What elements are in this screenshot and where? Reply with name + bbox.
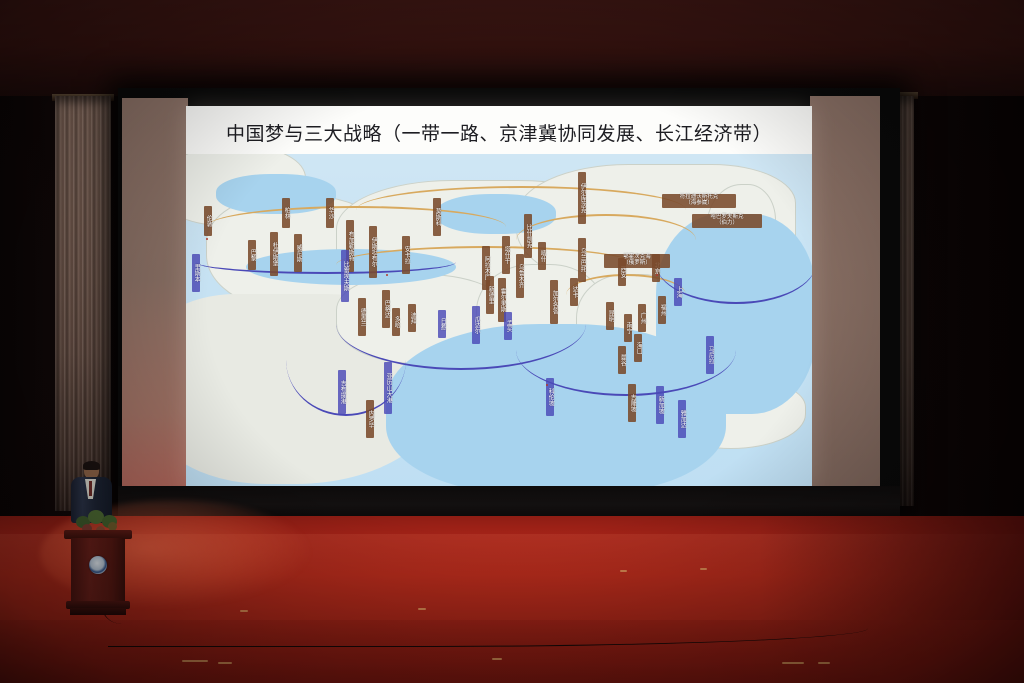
map-label-land: 德黑兰 (358, 298, 366, 336)
map-label-land: 多哈 (392, 308, 400, 336)
belt-and-road-map: 伦敦 柏林 华沙 巴黎 杜伊斯堡 威尼斯 布加勒斯特 伊斯坦布尔 安卡拉 莫斯科… (186, 154, 812, 488)
map-label-land: 莫斯科 (433, 198, 441, 236)
map-label-land: 杜伊斯堡 (270, 232, 278, 276)
stage-floor-marker (782, 662, 804, 664)
map-label-land: 内罗毕 (366, 400, 374, 438)
stage-floor-marker (620, 570, 627, 572)
map-label-land: 华沙 (326, 198, 334, 228)
map-label-port: 上海 (674, 278, 682, 306)
map-label-land: 威尼斯 (294, 234, 302, 272)
map-label-land: 伊尔库茨克 (578, 172, 586, 224)
screen-mat-right (810, 96, 880, 496)
stage-floor-marker (182, 660, 208, 662)
map-label-land: 比什凯克 (524, 214, 532, 258)
stage-floor-marker (418, 608, 426, 610)
map-label-land: 昆明 (606, 302, 614, 330)
podium-foot (70, 608, 126, 615)
projected-slide: 中国梦与三大战略（一带一路、京津冀协同发展、长江经济带） (186, 106, 812, 488)
map-label-port: 新加坡 (656, 386, 664, 424)
map-label-land: 塔什干 (502, 236, 510, 274)
stage-curtain-left (55, 96, 111, 511)
stage-floor-marker (700, 568, 707, 570)
map-label-region-line2: （伯力） (716, 221, 738, 227)
lecture-hall-scene: 中国梦与三大战略（一带一路、京津冀协同发展、长江经济带） (0, 0, 1024, 683)
map-label-land: 福州 (658, 296, 666, 324)
map-label-land: 吉隆坡 (628, 384, 636, 422)
map-label-port: 孟买 (504, 312, 512, 340)
map-label-region: 鄂霍次克海 （俄罗斯） (604, 254, 670, 268)
route-sea-mediterranean (196, 250, 456, 274)
map-label-land: 新德里 (486, 276, 494, 314)
map-label-port: 里斯本 (192, 254, 200, 292)
map-label-port: 瓜达尔 (472, 306, 480, 344)
map-label-land: 乌兰巴托 (578, 238, 586, 282)
map-label-land: 喀什 (538, 242, 546, 270)
map-label-land: 加尔各答 (550, 280, 558, 324)
stage-floor-marker (218, 662, 232, 664)
map-label-port: 马尼拉 (706, 336, 714, 374)
screen-mat-left (122, 98, 188, 502)
speaker-podium (64, 530, 132, 618)
map-label-port: 日惹 (438, 310, 446, 338)
map-city-dot (386, 274, 388, 276)
map-label-land: 乌鲁木齐 (516, 254, 524, 298)
map-city-dot (206, 238, 208, 240)
map-label-land: 伦敦 (204, 206, 212, 236)
map-label-region-line2: （海参崴） (685, 201, 713, 207)
map-label-land: 伊斯坦布尔 (369, 226, 377, 278)
map-label-region: 哈巴罗夫斯克 （伯力） (692, 214, 762, 228)
map-label-land: 柏林 (282, 198, 290, 228)
map-label-region-line2: （俄罗斯） (623, 261, 651, 267)
map-label-land: 巴格达 (382, 290, 390, 328)
map-label-land: 曼谷 (618, 346, 626, 374)
backdrop-right-dark (900, 96, 1024, 526)
map-label-land: 广州 (638, 304, 646, 332)
stage-floor-marker (240, 610, 248, 612)
speaker-hair (83, 461, 100, 470)
map-label-port: 吉布提港 (338, 370, 346, 414)
backdrop-upper-band (0, 0, 1024, 100)
map-label-land: 达卡 (570, 278, 578, 306)
slide-title: 中国梦与三大战略（一带一路、京津冀协同发展、长江经济带） (186, 110, 812, 154)
podium-emblem-icon (89, 556, 107, 574)
map-city-dot (546, 384, 548, 386)
map-city-dot (656, 274, 658, 276)
map-label-land: 巴黎 (248, 240, 256, 270)
stage-floor-marker (818, 662, 830, 664)
map-label-land: 海口 (634, 334, 642, 362)
speaker-tie (89, 481, 92, 496)
map-label-port: 雅加达 (678, 400, 686, 438)
stage-floor-marker (492, 658, 502, 660)
map-label-land: 南宁 (624, 314, 632, 342)
map-label-region: 符拉迪沃斯托克 （海参崴） (662, 194, 736, 208)
projection-screen: 中国梦与三大战略（一带一路、京津冀协同发展、长江经济带） (118, 88, 900, 520)
map-label-port: 亚历山大港 (384, 362, 392, 414)
map-label-land: 迪拜 (408, 304, 416, 332)
map-label-land: 安卡拉 (402, 236, 410, 274)
map-label-port: 比雷埃夫斯 (341, 250, 349, 302)
